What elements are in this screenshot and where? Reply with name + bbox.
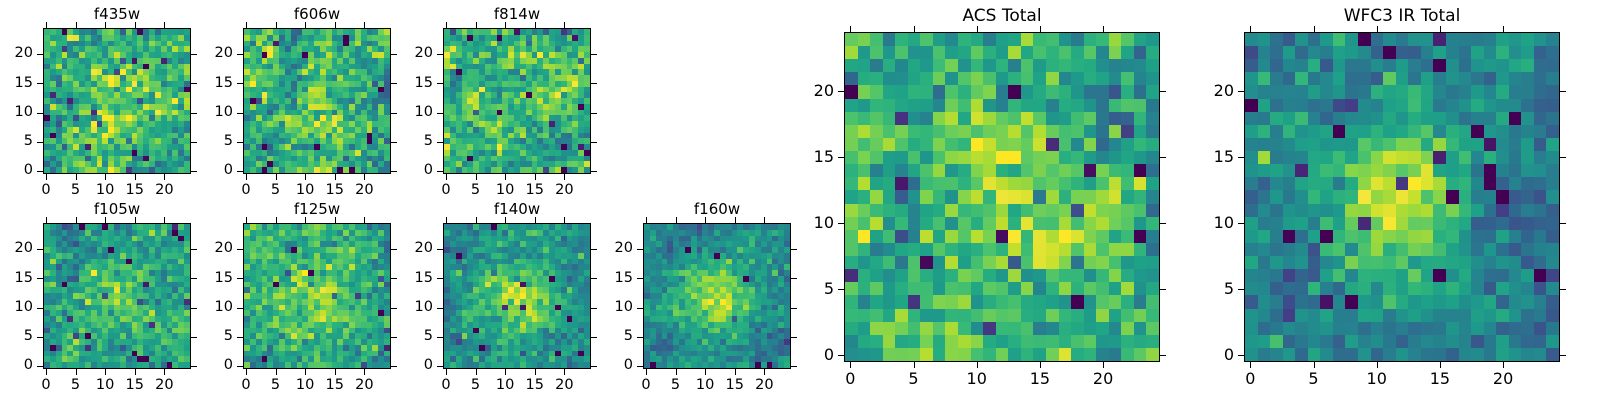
y-tick-mark [37,54,43,55]
x-tick-mark-top [276,217,277,223]
image-axes-acs[interactable] [844,32,1160,362]
x-tick-mark-top [564,22,565,28]
x-tick-mark-top [1503,26,1504,32]
y-tick-mark [437,113,443,114]
y-tick-mark-right [1160,91,1166,92]
y-tick-label: 0 [0,163,33,178]
y-tick-mark [37,249,43,250]
x-tick-mark [335,174,336,180]
y-tick-label: 5 [373,134,433,149]
y-tick-mark [637,366,643,367]
x-tick-mark [276,369,277,375]
x-tick-mark-top [977,26,978,32]
x-tick-mark [1250,362,1251,368]
x-tick-mark-top [1040,26,1041,32]
y-tick-label: 20 [1174,83,1234,99]
y-tick-mark [237,278,243,279]
y-tick-mark-right [1160,355,1166,356]
image-axes-f814w[interactable] [443,28,591,174]
heatmap-f160w [644,224,790,368]
x-tick-mark [476,174,477,180]
y-tick-label: 0 [173,358,233,373]
y-tick-mark-right [1560,157,1566,158]
x-tick-mark [850,362,851,368]
image-axes-f435w[interactable] [43,28,191,174]
x-tick-mark-top [305,217,306,223]
x-tick-mark-top [535,217,536,223]
y-tick-mark-right [1160,157,1166,158]
x-tick-mark-top [705,217,706,223]
panel-title-f140w: f140w [443,202,591,217]
y-tick-mark-right [791,308,797,309]
y-tick-mark-right [591,171,597,172]
y-tick-mark-right [1560,91,1566,92]
x-tick-mark [164,369,165,375]
y-tick-mark-right [1160,223,1166,224]
y-tick-mark [437,142,443,143]
x-tick-mark [676,369,677,375]
y-tick-label: 20 [373,46,433,61]
x-tick-mark-top [276,22,277,28]
x-tick-mark-top [1440,26,1441,32]
x-tick-mark [364,174,365,180]
y-tick-label: 0 [173,163,233,178]
image-axes-wfc3[interactable] [1244,32,1560,362]
y-tick-label: 5 [373,329,433,344]
x-tick-mark [135,174,136,180]
y-tick-label: 10 [573,300,633,315]
y-tick-label: 0 [774,347,834,363]
y-tick-mark-right [591,54,597,55]
x-tick-mark-top [676,217,677,223]
y-tick-mark [1238,223,1244,224]
x-tick-mark [46,369,47,375]
heatmap-f140w [444,224,590,368]
y-tick-mark [237,308,243,309]
y-tick-mark [1238,289,1244,290]
image-axes-f140w[interactable] [443,223,591,369]
y-tick-label: 10 [173,105,233,120]
x-tick-mark-top [535,22,536,28]
y-tick-mark [437,54,443,55]
y-tick-mark [437,337,443,338]
heatmap-f814w [444,29,590,173]
x-tick-mark-top [476,22,477,28]
x-tick-label: 20 [739,378,789,393]
y-tick-mark-right [791,366,797,367]
x-tick-mark [446,369,447,375]
x-tick-mark-top [105,22,106,28]
panel-title-f814w: f814w [443,7,591,22]
x-tick-mark [564,369,565,375]
y-tick-mark [37,142,43,143]
x-tick-mark [305,174,306,180]
x-tick-mark-top [246,217,247,223]
x-tick-mark-top [564,217,565,223]
y-tick-label: 5 [1174,281,1234,297]
y-tick-mark [237,366,243,367]
panel-f125w: f125w0510152005101520 [243,223,391,369]
x-tick-mark-top [46,217,47,223]
x-tick-mark [135,369,136,375]
y-tick-mark [37,83,43,84]
x-tick-mark [305,369,306,375]
y-tick-mark [637,337,643,338]
x-tick-mark-top [335,22,336,28]
x-tick-mark [105,174,106,180]
y-tick-mark-right [591,83,597,84]
x-tick-mark-top [105,217,106,223]
x-tick-mark-top [1103,26,1104,32]
panel-title-f606w: f606w [243,7,391,22]
x-tick-mark [535,174,536,180]
y-tick-mark [37,337,43,338]
x-tick-mark-top [646,217,647,223]
x-tick-mark [335,369,336,375]
x-tick-mark [1040,362,1041,368]
x-tick-mark [476,369,477,375]
y-tick-label: 10 [173,300,233,315]
y-tick-mark [37,366,43,367]
y-tick-label: 20 [173,241,233,256]
heatmap-f105w [44,224,190,368]
x-tick-mark [1103,362,1104,368]
x-tick-label: 20 [339,378,389,393]
x-tick-mark [705,369,706,375]
y-tick-mark [637,249,643,250]
x-tick-mark-top [76,217,77,223]
x-tick-mark [246,369,247,375]
panel-title-wfc3: WFC3 IR Total [1244,8,1560,25]
y-tick-label: 20 [373,241,433,256]
x-tick-mark [1377,362,1378,368]
x-tick-mark [246,174,247,180]
y-tick-label: 10 [774,215,834,231]
x-tick-label: 0 [1225,371,1275,387]
x-tick-mark [1314,362,1315,368]
x-tick-mark-top [764,217,765,223]
x-tick-mark-top [46,22,47,28]
y-tick-label: 15 [0,76,33,91]
y-tick-mark-right [1160,289,1166,290]
y-tick-mark-right [791,337,797,338]
y-tick-mark [437,308,443,309]
y-tick-label: 5 [573,329,633,344]
x-tick-mark-top [476,217,477,223]
y-tick-mark [838,91,844,92]
x-tick-mark-top [1250,26,1251,32]
panel-f814w: f814w0510152005101520 [443,28,591,174]
panel-f105w: f105w0510152005101520 [43,223,191,369]
heatmap-acs [845,33,1159,361]
y-tick-label: 15 [573,271,633,286]
image-axes-f160w[interactable] [643,223,791,369]
x-tick-label: 20 [139,378,189,393]
y-tick-label: 10 [0,300,33,315]
y-tick-label: 15 [1174,149,1234,165]
figure-canvas: f435w0510152005101520f606w05101520051015… [0,0,1600,400]
y-tick-label: 20 [0,241,33,256]
panel-title-f125w: f125w [243,202,391,217]
y-tick-mark-right [591,113,597,114]
x-tick-label: 20 [139,183,189,198]
y-tick-mark-right [591,142,597,143]
y-tick-label: 15 [173,271,233,286]
y-tick-mark [37,278,43,279]
y-tick-mark [437,171,443,172]
heatmap-f125w [244,224,390,368]
x-tick-label: 0 [825,371,875,387]
heatmap-f435w [44,29,190,173]
x-tick-mark-top [364,22,365,28]
y-tick-label: 5 [0,134,33,149]
y-tick-label: 0 [1174,347,1234,363]
x-tick-mark [105,369,106,375]
panel-f435w: f435w0510152005101520 [43,28,191,174]
y-tick-mark [237,113,243,114]
y-tick-label: 15 [173,76,233,91]
x-tick-mark-top [1377,26,1378,32]
y-tick-mark-right [1560,289,1566,290]
y-tick-mark [838,355,844,356]
y-tick-mark [637,278,643,279]
x-tick-label: 10 [952,371,1002,387]
x-tick-label: 15 [1415,371,1465,387]
x-tick-mark [76,174,77,180]
x-tick-label: 20 [1078,371,1128,387]
y-tick-label: 20 [573,241,633,256]
y-tick-mark [37,171,43,172]
y-tick-label: 20 [774,83,834,99]
y-tick-mark [437,278,443,279]
y-tick-label: 10 [373,105,433,120]
panel-title-f435w: f435w [43,7,191,22]
x-tick-mark [364,369,365,375]
y-tick-label: 10 [1174,215,1234,231]
y-tick-mark [437,83,443,84]
x-tick-mark [977,362,978,368]
y-tick-mark [437,366,443,367]
y-tick-label: 5 [173,329,233,344]
x-tick-mark [564,174,565,180]
x-tick-mark-top [135,217,136,223]
x-tick-mark-top [850,26,851,32]
x-tick-mark [505,369,506,375]
y-tick-label: 20 [0,46,33,61]
panel-title-f160w: f160w [643,202,791,217]
x-tick-mark [164,174,165,180]
x-tick-label: 20 [1478,371,1528,387]
x-tick-mark-top [1314,26,1315,32]
y-tick-mark [1238,91,1244,92]
panel-title-f105w: f105w [43,202,191,217]
panel-f160w: f160w0510152005101520 [643,223,791,369]
y-tick-label: 15 [0,271,33,286]
x-tick-mark [1503,362,1504,368]
y-tick-label: 10 [373,300,433,315]
y-tick-label: 15 [774,149,834,165]
y-tick-label: 10 [0,105,33,120]
x-tick-label: 20 [339,183,389,198]
y-tick-mark [437,249,443,250]
x-tick-mark [46,174,47,180]
x-tick-mark [1440,362,1441,368]
y-tick-mark [838,157,844,158]
y-tick-label: 0 [573,358,633,373]
y-tick-mark [237,83,243,84]
y-tick-label: 0 [0,358,33,373]
y-tick-mark [237,142,243,143]
x-tick-mark-top [164,217,165,223]
y-tick-mark [237,171,243,172]
y-tick-label: 15 [373,76,433,91]
x-tick-label: 20 [539,378,589,393]
x-tick-mark-top [505,22,506,28]
panel-title-acs: ACS Total [844,8,1160,25]
x-tick-mark-top [914,26,915,32]
y-tick-label: 0 [373,163,433,178]
x-tick-mark-top [305,22,306,28]
y-tick-mark-right [1560,223,1566,224]
y-tick-mark [1238,157,1244,158]
image-axes-f105w[interactable] [43,223,191,369]
x-tick-mark [446,174,447,180]
y-tick-label: 20 [173,46,233,61]
heatmap-wfc3 [1245,33,1559,361]
x-tick-mark [276,174,277,180]
panel-acs: ACS Total0510152005101520 [844,32,1160,362]
image-axes-f125w[interactable] [243,223,391,369]
x-tick-mark [535,369,536,375]
x-tick-mark-top [446,217,447,223]
y-tick-mark [37,113,43,114]
y-tick-mark-right [791,278,797,279]
x-tick-mark-top [164,22,165,28]
y-tick-mark [838,289,844,290]
x-tick-label: 15 [1015,371,1065,387]
y-tick-mark [37,308,43,309]
x-tick-mark-top [335,217,336,223]
x-tick-mark [735,369,736,375]
x-tick-mark [76,369,77,375]
y-tick-mark [637,308,643,309]
y-tick-mark [237,54,243,55]
x-tick-mark [646,369,647,375]
x-tick-label: 5 [889,371,939,387]
x-tick-label: 20 [539,183,589,198]
heatmap-f606w [244,29,390,173]
x-tick-mark [914,362,915,368]
x-tick-mark-top [446,22,447,28]
y-tick-mark-right [1560,355,1566,356]
x-tick-mark [505,174,506,180]
y-tick-label: 5 [774,281,834,297]
image-axes-f606w[interactable] [243,28,391,174]
y-tick-mark [1238,355,1244,356]
x-tick-mark-top [735,217,736,223]
x-tick-label: 10 [1352,371,1402,387]
y-tick-label: 5 [0,329,33,344]
y-tick-label: 5 [173,134,233,149]
x-tick-label: 5 [1289,371,1339,387]
y-tick-mark-right [791,249,797,250]
y-tick-mark [838,223,844,224]
y-tick-label: 15 [373,271,433,286]
y-tick-mark [237,249,243,250]
x-tick-mark-top [364,217,365,223]
x-tick-mark-top [505,217,506,223]
x-tick-mark [764,369,765,375]
panel-f140w: f140w0510152005101520 [443,223,591,369]
y-tick-mark [237,337,243,338]
y-tick-label: 0 [373,358,433,373]
x-tick-mark-top [135,22,136,28]
x-tick-mark-top [246,22,247,28]
panel-wfc3: WFC3 IR Total0510152005101520 [1244,32,1560,362]
panel-f606w: f606w0510152005101520 [243,28,391,174]
x-tick-mark-top [76,22,77,28]
